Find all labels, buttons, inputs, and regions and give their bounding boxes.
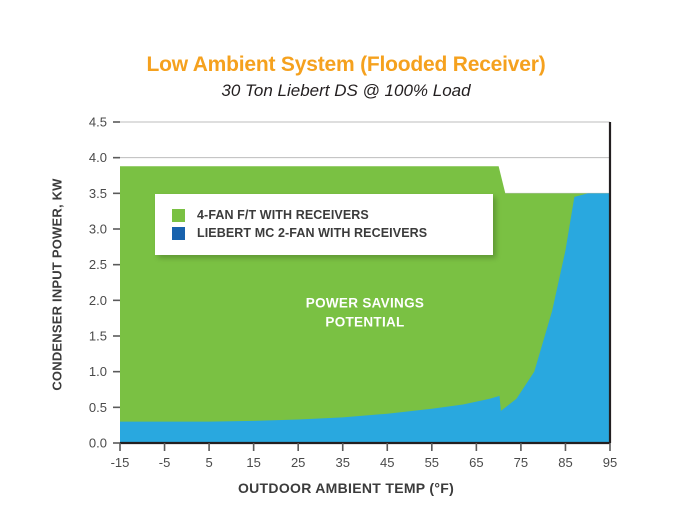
y-tick-label: 4.5 bbox=[89, 115, 107, 130]
legend-item-green: 4-FAN F/T WITH RECEIVERS bbox=[155, 206, 493, 224]
x-tick-label: 65 bbox=[469, 455, 483, 470]
y-tick-label: 2.0 bbox=[89, 293, 107, 308]
x-tick-label: 55 bbox=[425, 455, 439, 470]
y-tick-label: 0.0 bbox=[89, 436, 107, 451]
x-tick-label: 45 bbox=[380, 455, 394, 470]
x-tick-label: 5 bbox=[205, 455, 212, 470]
power-savings-label-line2: POTENTIAL bbox=[325, 314, 404, 329]
y-tick-label: 3.5 bbox=[89, 186, 107, 201]
y-tick-label: 2.5 bbox=[89, 257, 107, 272]
x-tick-label: 75 bbox=[514, 455, 528, 470]
x-tick-label: 85 bbox=[558, 455, 572, 470]
legend-label-green: 4-FAN F/T WITH RECEIVERS bbox=[197, 208, 369, 222]
x-tick-label: 95 bbox=[603, 455, 617, 470]
x-tick-label: 15 bbox=[246, 455, 260, 470]
x-tick-label: -5 bbox=[159, 455, 171, 470]
y-tick-label: 0.5 bbox=[89, 400, 107, 415]
legend-swatch-blue bbox=[172, 227, 185, 240]
plot-area: 0.00.51.01.52.02.53.03.54.04.5-15-551525… bbox=[0, 0, 692, 514]
y-tick-label: 1.0 bbox=[89, 364, 107, 379]
legend-label-blue: LIEBERT MC 2-FAN WITH RECEIVERS bbox=[197, 226, 427, 240]
legend-item-blue: LIEBERT MC 2-FAN WITH RECEIVERS bbox=[155, 224, 493, 242]
chart-container: Low Ambient System (Flooded Receiver) 30… bbox=[0, 0, 692, 514]
y-tick-label: 3.0 bbox=[89, 222, 107, 237]
x-tick-label: -15 bbox=[111, 455, 130, 470]
x-tick-label: 35 bbox=[335, 455, 349, 470]
x-tick-label: 25 bbox=[291, 455, 305, 470]
power-savings-label-line1: POWER SAVINGS bbox=[306, 295, 424, 310]
legend-swatch-green bbox=[172, 209, 185, 222]
y-tick-label: 1.5 bbox=[89, 329, 107, 344]
y-tick-label: 4.0 bbox=[89, 150, 107, 165]
chart-legend: 4-FAN F/T WITH RECEIVERS LIEBERT MC 2-FA… bbox=[155, 194, 493, 255]
